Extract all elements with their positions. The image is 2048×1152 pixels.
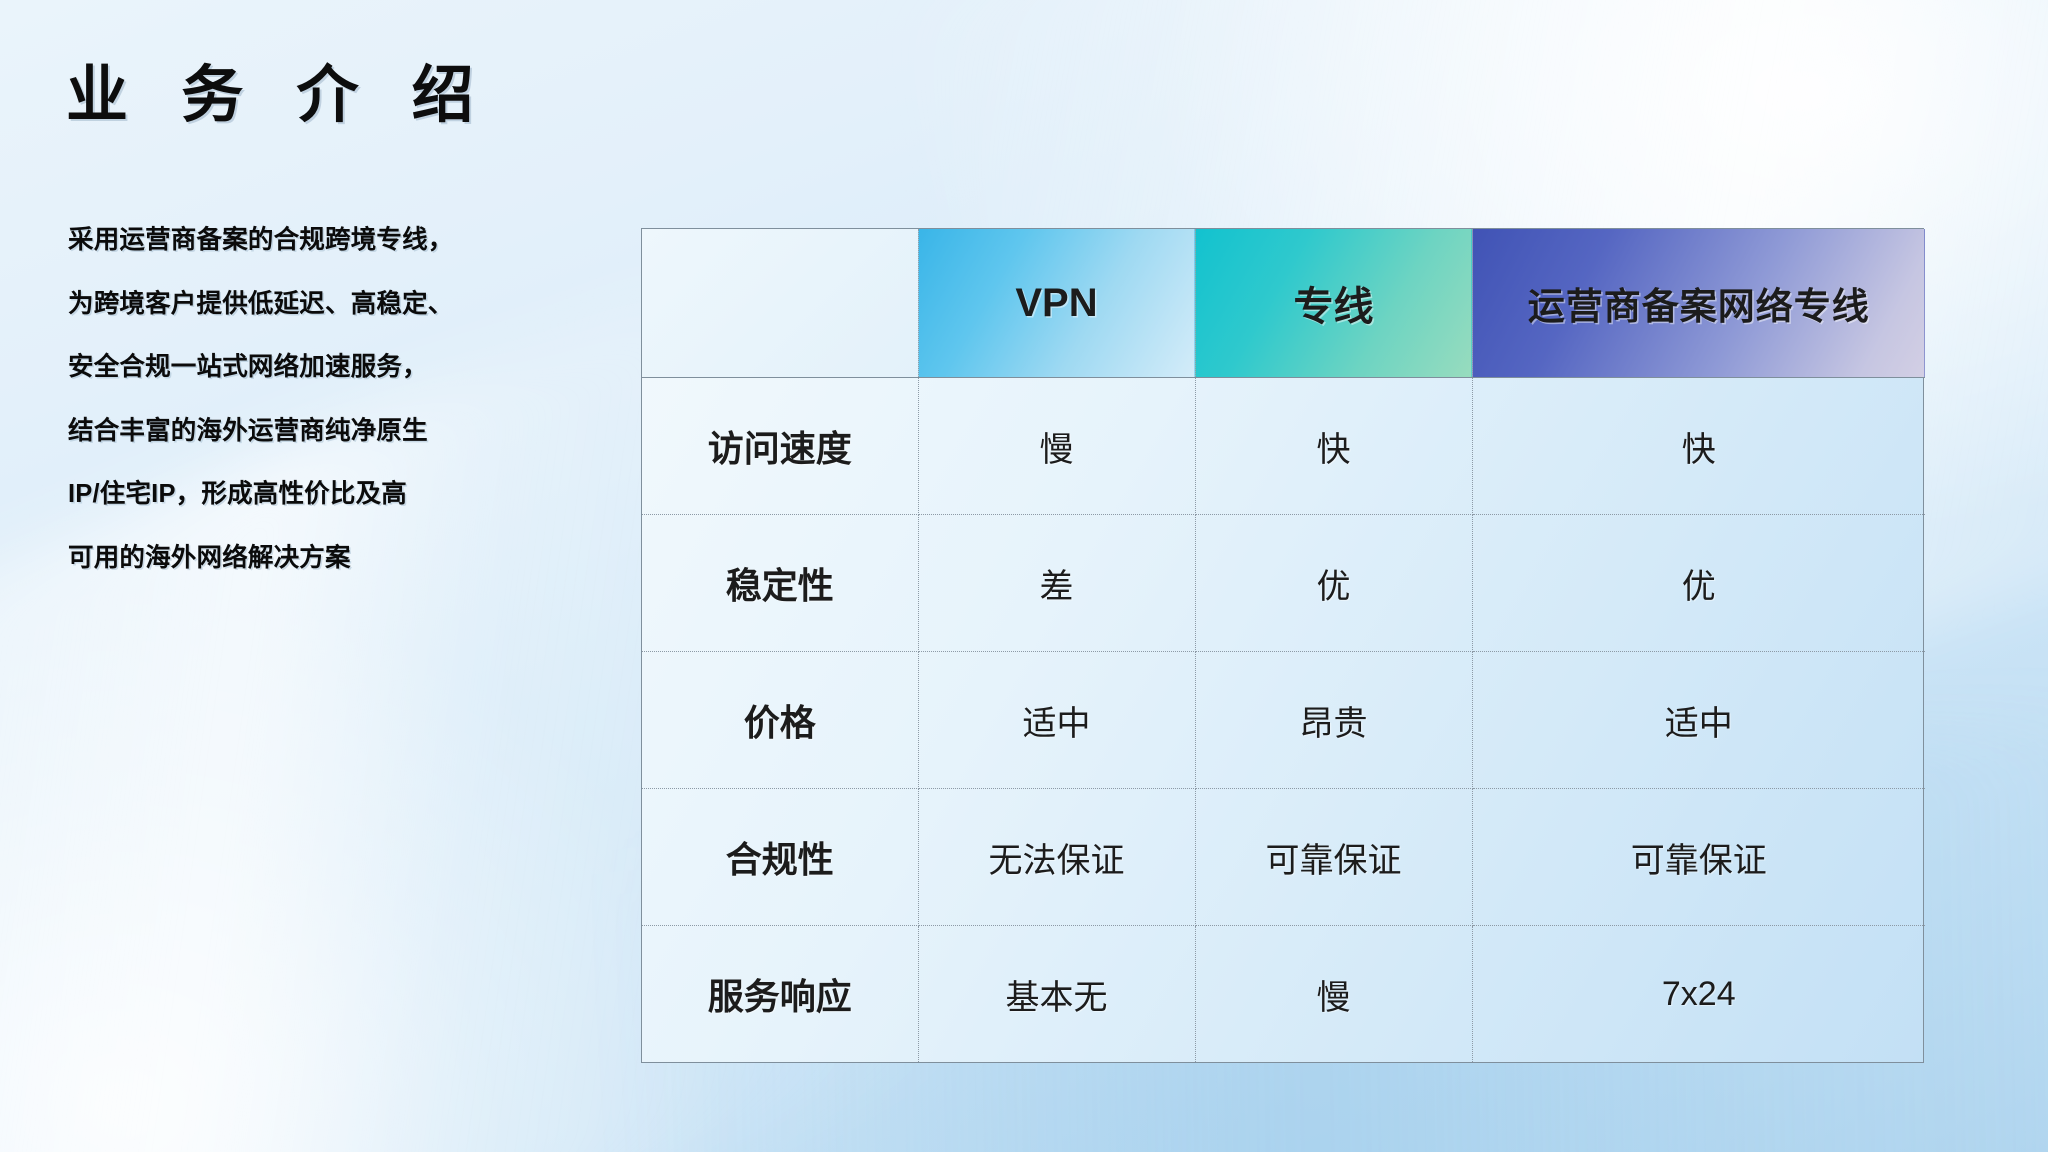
- intro-paragraph: 采用运营商备案的合规跨境专线， 为跨境客户提供低延迟、高稳定、 安全合规一站式网…: [68, 228, 628, 571]
- page-title: 业 务 介 绍: [66, 62, 492, 130]
- cell-vpn: 适中: [918, 652, 1195, 789]
- cell-vpn: 差: [918, 515, 1195, 652]
- intro-line: IP/住宅IP，形成高性价比及高: [68, 482, 628, 508]
- cell-leased-line: 慢: [1195, 926, 1472, 1063]
- cell-operator-line: 适中: [1472, 652, 1925, 789]
- row-label: 服务响应: [642, 926, 918, 1063]
- table-row: 访问速度 慢 快 快: [642, 378, 1925, 515]
- comparison-table: VPN 专线 运营商备案网络专线 访问速度 慢 快 快 稳定性 差 优 优: [642, 229, 1925, 1062]
- row-label: 合规性: [642, 789, 918, 926]
- row-label: 价格: [642, 652, 918, 789]
- table-header-vpn: VPN: [918, 229, 1195, 378]
- table-row: 价格 适中 昂贵 适中: [642, 652, 1925, 789]
- table-body: 访问速度 慢 快 快 稳定性 差 优 优 价格 适中 昂贵 适中: [642, 378, 1925, 1063]
- cell-leased-line: 快: [1195, 378, 1472, 515]
- comparison-table-container: VPN 专线 运营商备案网络专线 访问速度 慢 快 快 稳定性 差 优 优: [641, 228, 1924, 1063]
- table-header-blank: [642, 229, 918, 378]
- table-header-operator-line: 运营商备案网络专线: [1472, 229, 1925, 378]
- intro-line: 结合丰富的海外运营商纯净原生: [68, 419, 628, 445]
- cell-vpn: 基本无: [918, 926, 1195, 1063]
- intro-line: 为跨境客户提供低延迟、高稳定、: [68, 292, 628, 318]
- table-row: 合规性 无法保证 可靠保证 可靠保证: [642, 789, 1925, 926]
- table-row: 服务响应 基本无 慢 7x24: [642, 926, 1925, 1063]
- cell-leased-line: 优: [1195, 515, 1472, 652]
- table-header: VPN 专线 运营商备案网络专线: [642, 229, 1925, 378]
- cell-leased-line: 昂贵: [1195, 652, 1472, 789]
- cell-operator-line: 7x24: [1472, 926, 1925, 1063]
- row-label: 稳定性: [642, 515, 918, 652]
- cell-operator-line: 优: [1472, 515, 1925, 652]
- cell-leased-line: 可靠保证: [1195, 789, 1472, 926]
- table-row: 稳定性 差 优 优: [642, 515, 1925, 652]
- cell-operator-line: 快: [1472, 378, 1925, 515]
- cell-vpn: 慢: [918, 378, 1195, 515]
- intro-line: 可用的海外网络解决方案: [68, 546, 628, 572]
- cell-operator-line: 可靠保证: [1472, 789, 1925, 926]
- slide-canvas: 业 务 介 绍 采用运营商备案的合规跨境专线， 为跨境客户提供低延迟、高稳定、 …: [0, 0, 2048, 1152]
- table-header-row: VPN 专线 运营商备案网络专线: [642, 229, 1925, 378]
- intro-line: 安全合规一站式网络加速服务，: [68, 355, 628, 381]
- intro-line: 采用运营商备案的合规跨境专线，: [68, 228, 628, 254]
- cell-vpn: 无法保证: [918, 789, 1195, 926]
- table-header-leased-line: 专线: [1195, 229, 1472, 378]
- row-label: 访问速度: [642, 378, 918, 515]
